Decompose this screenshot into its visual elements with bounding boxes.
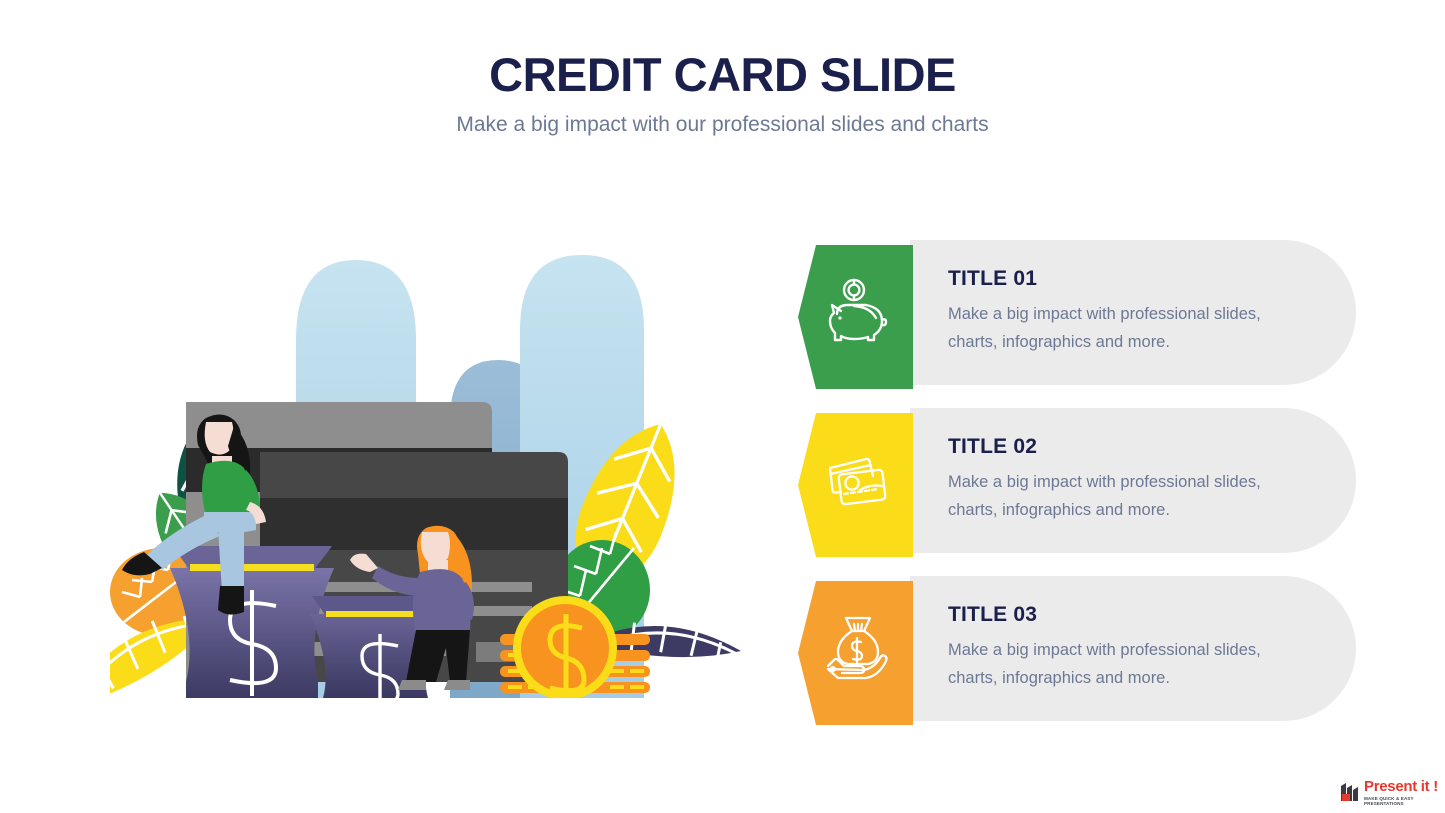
card-text-01: TITLE 01 Make a big impact with professi… <box>948 267 1308 356</box>
info-cards-list: TITLE 01 Make a big impact with professi… <box>798 240 1368 744</box>
info-card-01[interactable]: TITLE 01 Make a big impact with professi… <box>798 240 1368 385</box>
brand-logo[interactable]: Present it ! MAKE QUICK & EASY PRESENTAT… <box>1340 779 1440 807</box>
credit-card-finance-illustration <box>110 230 810 720</box>
card-description: Make a big impact with professional slid… <box>948 469 1308 524</box>
slide-header: CREDIT CARD SLIDE Make a big impact with… <box>0 0 1445 137</box>
credit-cards-icon <box>824 446 888 516</box>
page-subtitle: Make a big impact with our professional … <box>0 113 1445 137</box>
card-text-02: TITLE 02 Make a big impact with professi… <box>948 435 1308 524</box>
info-card-02[interactable]: TITLE 02 Make a big impact with professi… <box>798 408 1368 553</box>
logo-mark-icon <box>1340 781 1361 802</box>
card-title: TITLE 01 <box>948 267 1308 291</box>
card-title: TITLE 02 <box>948 435 1308 459</box>
logo-tagline: MAKE QUICK & EASY PRESENTATIONS <box>1364 797 1440 806</box>
page-title: CREDIT CARD SLIDE <box>0 50 1445 99</box>
money-bag-hand-icon <box>824 614 888 684</box>
card-text-03: TITLE 03 Make a big impact with professi… <box>948 603 1308 692</box>
info-card-03[interactable]: TITLE 03 Make a big impact with professi… <box>798 576 1368 721</box>
piggy-bank-icon <box>824 278 888 348</box>
card-description: Make a big impact with professional slid… <box>948 637 1308 692</box>
card-title: TITLE 03 <box>948 603 1308 627</box>
card-description: Make a big impact with professional slid… <box>948 301 1308 356</box>
logo-name: Present it ! <box>1364 779 1440 794</box>
money-bag-large <box>170 546 334 698</box>
